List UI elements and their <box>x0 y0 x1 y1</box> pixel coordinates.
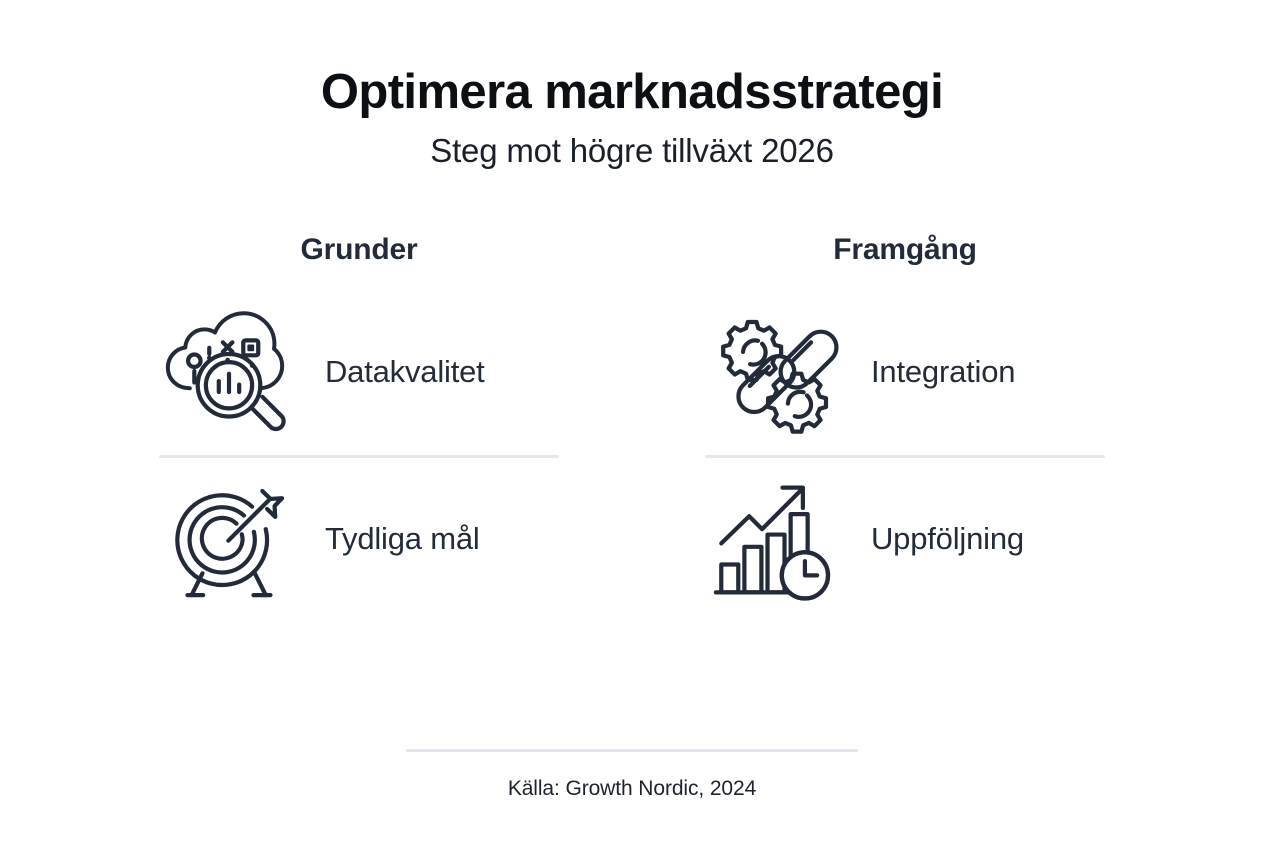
gears-chain-link-icon <box>705 303 845 443</box>
list-item-label: Integration <box>871 355 1015 389</box>
target-arrow-icon <box>159 470 299 610</box>
list-item-integration[interactable]: Integration <box>705 291 1105 455</box>
list-item-tydliga-mal[interactable]: Tydliga mål <box>159 458 559 622</box>
column-heading-grunder: Grunder <box>159 233 559 267</box>
column-grunder: Grunder <box>159 233 559 622</box>
footer-divider <box>406 749 858 752</box>
slide-root: Optimera marknadsstrategi Steg mot högre… <box>0 0 1264 848</box>
bar-chart-growth-clock-icon <box>705 470 845 610</box>
source-text: Källa: Growth Nordic, 2024 <box>508 777 756 801</box>
page-subtitle: Steg mot högre tillväxt 2026 <box>0 131 1264 171</box>
cloud-data-search-icon <box>159 303 299 443</box>
slide-footer: Källa: Growth Nordic, 2024 <box>0 749 1264 801</box>
columns-container: Grunder <box>0 233 1264 622</box>
column-framgang: Framgång <box>705 233 1105 622</box>
list-item-label: Uppföljning <box>871 522 1024 556</box>
list-item-label: Tydliga mål <box>325 522 480 556</box>
slide-header: Optimera marknadsstrategi Steg mot högre… <box>0 66 1264 171</box>
column-heading-framgang: Framgång <box>705 233 1105 267</box>
list-item-label: Datakvalitet <box>325 355 485 389</box>
list-item-datakvalitet[interactable]: Datakvalitet <box>159 291 559 455</box>
page-title: Optimera marknadsstrategi <box>0 66 1264 119</box>
list-item-uppfoljning[interactable]: Uppföljning <box>705 458 1105 622</box>
